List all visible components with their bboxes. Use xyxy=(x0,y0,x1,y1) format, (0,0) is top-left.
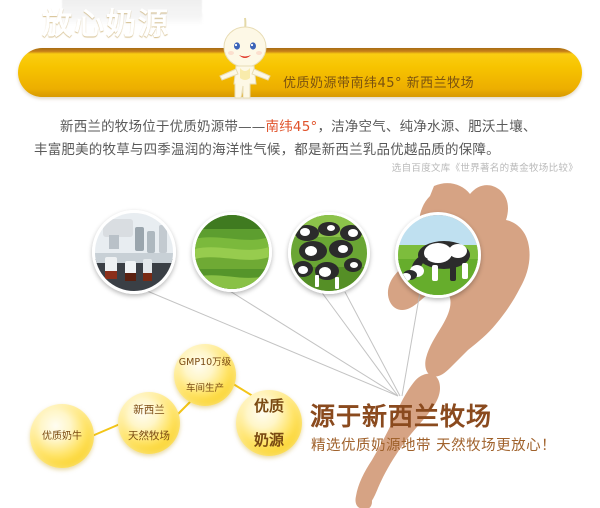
node-quality-milk-line1: 优质 xyxy=(254,398,284,415)
node-quality-cow-label: 优质奶牛 xyxy=(42,430,82,443)
node-nz-farm-line1: 新西兰 xyxy=(128,404,170,417)
milk-mascot-icon xyxy=(212,14,278,102)
node-quality-milk-label: 优质 奶源 xyxy=(254,398,284,449)
photo-lab-equipment[interactable] xyxy=(92,210,176,294)
green-pasture-image xyxy=(195,215,269,289)
node-gmp-workshop[interactable]: GMP10万级 车间生产 xyxy=(174,344,236,406)
node-nz-farm-line2: 天然牧场 xyxy=(128,430,170,443)
node-quality-milk[interactable]: 优质 奶源 xyxy=(236,390,302,456)
node-gmp-line1: GMP10万级 xyxy=(179,356,231,369)
photo-green-pasture[interactable] xyxy=(192,212,272,292)
lab-equipment-image xyxy=(95,213,173,291)
cow-herd-image xyxy=(291,215,367,291)
headline-main: 源于新西兰牧场 xyxy=(310,403,492,431)
promo-page: 放心奶源 优质奶源带南纬45° 新西兰牧场 新西兰的牧场位于优质奶源带——南纬4… xyxy=(0,0,600,508)
photo-cow-herd[interactable] xyxy=(288,212,370,294)
banner-title: 放心奶源 xyxy=(42,8,170,42)
node-quality-milk-line2: 奶源 xyxy=(254,432,284,449)
node-nz-farm[interactable]: 新西兰 天然牧场 xyxy=(118,392,180,454)
grazing-cow-image xyxy=(398,215,478,295)
photo-grazing-cow[interactable] xyxy=(395,212,481,298)
headline-sub: 精选优质奶源地带 天然牧场更放心！ xyxy=(311,437,556,456)
node-gmp-line2: 车间生产 xyxy=(179,382,231,395)
node-quality-cow[interactable]: 优质奶牛 xyxy=(30,404,94,468)
banner-subtitle: 优质奶源带南纬45° 新西兰牧场 xyxy=(283,76,474,92)
node-nz-farm-label: 新西兰 天然牧场 xyxy=(128,404,170,443)
node-gmp-workshop-label: GMP10万级 车间生产 xyxy=(179,356,231,395)
